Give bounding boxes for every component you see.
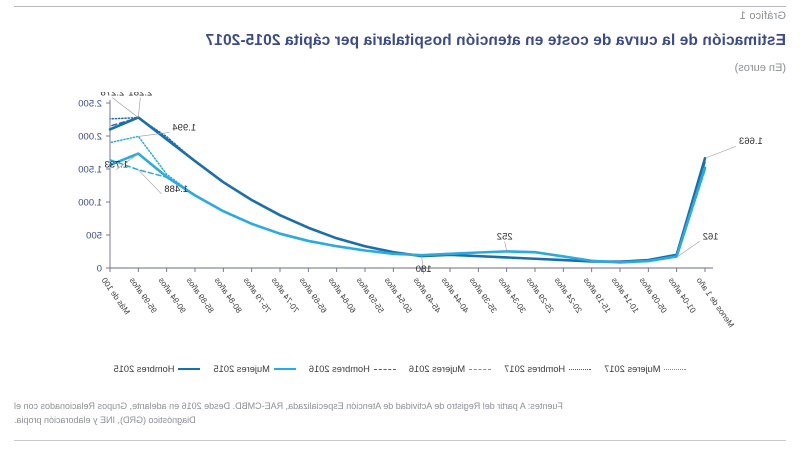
series-line <box>110 136 705 262</box>
series-line <box>110 154 705 263</box>
x-axis-tick-label: 90-94 años <box>156 276 187 315</box>
x-axis-tick-label: 40-44 años <box>440 276 471 315</box>
series-layer <box>110 117 705 262</box>
line-chart-svg: 05001.0001.5002.0002.500 1.6631621802522… <box>0 92 800 282</box>
legend-swatch-dashed-icon <box>469 369 491 370</box>
x-axis-tick-label: 60-64 años <box>326 276 357 315</box>
series-line <box>110 118 705 262</box>
legend-label: Hombres 2015 <box>114 364 175 374</box>
svg-text:0: 0 <box>97 263 102 274</box>
chart-title: Estimación de la curva de coste en atenc… <box>14 32 786 50</box>
legend-item[interactable]: Mujeres 2015 <box>214 364 296 374</box>
legend-label: Hombres 2017 <box>504 364 565 374</box>
source-line-1: Fuentes: A partir del Registro de Activi… <box>14 401 563 411</box>
data-point-label: 1.488 <box>164 184 188 195</box>
legend-swatch-solid-icon <box>179 368 201 370</box>
data-point-label: 1.733 <box>104 160 128 171</box>
x-axis-tick-label: 25-29 años <box>525 276 556 315</box>
legend-swatch-dotted-icon <box>569 369 591 370</box>
legend-item[interactable]: Hombres 2017 <box>504 364 591 374</box>
legend-label: Mujeres 2015 <box>214 364 270 374</box>
legend-label: Mujeres 2016 <box>409 364 465 374</box>
data-point-label: 252 <box>497 231 513 242</box>
chart-page: Gráfico 1 Estimación de la curva de cost… <box>0 0 800 450</box>
figure-number-label: Gráfico 1 <box>740 10 786 22</box>
x-axis-tick-label: 20-24 años <box>553 276 584 315</box>
x-axis-tick-label: 70-74 años <box>270 276 301 315</box>
series-line <box>110 117 705 261</box>
x-axis-tick-label: 05-09 años <box>638 276 669 315</box>
x-axis-tick-labels: Menos de 1 año01-04 años05-09 años10-14 … <box>0 276 800 356</box>
data-point-label: 162 <box>703 231 719 242</box>
series-line <box>110 118 705 262</box>
legend-item[interactable]: Mujeres 2016 <box>409 364 491 374</box>
legend-swatch-solid-icon <box>274 368 296 370</box>
chart-units-subtitle: (En euros) <box>14 62 786 74</box>
data-point-label: 180 <box>416 264 432 275</box>
svg-text:1.000: 1.000 <box>78 197 102 208</box>
x-axis-tick-label: 45-49 años <box>411 276 442 315</box>
data-point-label: 2.278 <box>100 92 124 99</box>
source-line-2: Diagnóstico (GRD), INE y elaboración pro… <box>14 415 196 425</box>
top-divider <box>14 6 786 7</box>
svg-text:500: 500 <box>86 230 102 241</box>
legend-item[interactable]: Hombres 2015 <box>114 364 201 374</box>
x-axis-tick-label: 35-39 años <box>468 276 499 315</box>
mirrored-page-canvas: Gráfico 1 Estimación de la curva de cost… <box>0 0 800 450</box>
svg-text:2.000: 2.000 <box>78 131 102 142</box>
source-note: Fuentes: A partir del Registro de Activi… <box>14 400 786 428</box>
series-line <box>110 160 705 263</box>
x-axis-tick-label: 85-89 años <box>185 276 216 315</box>
svg-text:1.500: 1.500 <box>78 164 102 175</box>
x-axis-tick-label: 80-84 años <box>213 276 244 315</box>
x-axis-tick-label: 65-69 años <box>298 276 329 315</box>
x-axis-tick-label: 50-54 años <box>383 276 414 315</box>
bottom-divider <box>14 440 786 441</box>
x-axis-tick-label: 55-59 años <box>355 276 386 315</box>
legend-label: Hombres 2016 <box>309 364 370 374</box>
x-axis-tick-label: 30-34 años <box>496 276 527 315</box>
legend-label: Mujeres 2017 <box>604 364 660 374</box>
x-axis-tick-label: Más de 100 <box>100 276 132 316</box>
x-axis-tick-label: 75-79 años <box>241 276 272 315</box>
legend-swatch-dotted-icon <box>665 369 687 370</box>
svg-text:2.500: 2.500 <box>78 98 102 109</box>
data-point-label: 1.663 <box>739 136 763 147</box>
legend-item[interactable]: Hombres 2016 <box>309 364 396 374</box>
x-axis-tick-label: 95-99 años <box>128 276 159 315</box>
plot-area: 05001.0001.5002.0002.500 1.6631621802522… <box>0 92 800 282</box>
chart-legend: Hombres 2015Mujeres 2015Hombres 2016Muje… <box>0 360 800 378</box>
data-point-label: 2.281 <box>128 92 152 98</box>
x-axis-tick-label: 15-19 años <box>581 276 612 315</box>
legend-swatch-dashed-icon <box>374 369 396 370</box>
data-point-label: 1.994 <box>172 122 196 133</box>
x-axis-tick-label: Menos de 1 año <box>695 276 736 329</box>
x-axis-tick-label: 10-14 años <box>610 276 641 315</box>
legend-item[interactable]: Mujeres 2017 <box>604 364 686 374</box>
annotation-layer: 1.6631621802522.2812.2781.9941.7331.488 <box>100 92 762 275</box>
x-axis-tick-label: 01-04 años <box>666 276 697 315</box>
